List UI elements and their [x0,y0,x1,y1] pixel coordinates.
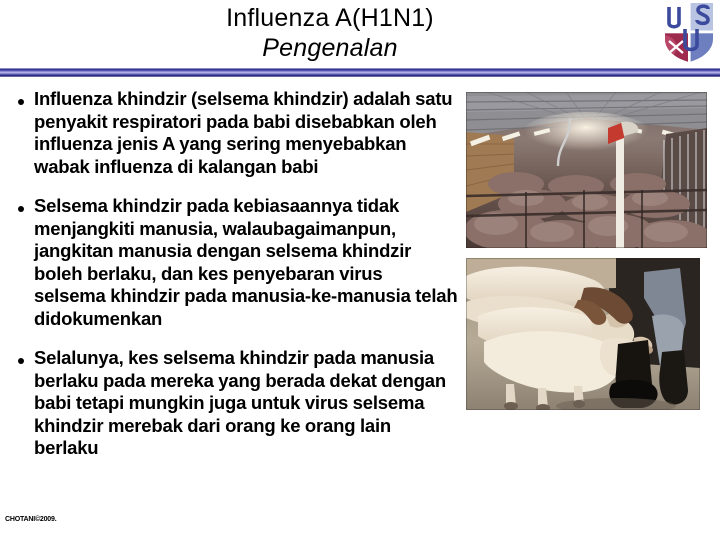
shield-icon [663,1,715,64]
slide: Influenza A(H1N1) Pengenalan [0,0,720,540]
bullet-marker-icon [18,97,34,105]
usu-shield-logo [663,1,715,64]
list-item-text: Selalunya, kes selsema khindzir pada man… [34,347,458,460]
bullet-marker-icon [18,204,34,212]
list-item-text: Influenza khindzir (selsema khindzir) ad… [34,88,458,178]
title-divider [0,68,720,77]
page-title: Influenza A(H1N1) Pengenalan [0,4,660,63]
footer-credit: CHOTANI©2009. [5,516,56,523]
list-item: Selalunya, kes selsema khindzir pada man… [18,347,458,460]
list-item-text: Selsema khindzir pada kebiasaannya tidak… [34,195,458,330]
title-main: Influenza A(H1N1) [0,4,660,33]
pig-barn-photo [466,92,707,248]
list-item: Selsema khindzir pada kebiasaannya tidak… [18,195,458,330]
bullet-list: Influenza khindzir (selsema khindzir) ad… [18,88,458,477]
bullet-marker-icon [18,356,34,364]
list-item: Influenza khindzir (selsema khindzir) ad… [18,88,458,178]
pig-barn-image [466,92,707,248]
pigs-handler-image [466,258,700,410]
pigs-handler-photo [466,258,700,410]
title-subtitle: Pengenalan [0,33,660,63]
